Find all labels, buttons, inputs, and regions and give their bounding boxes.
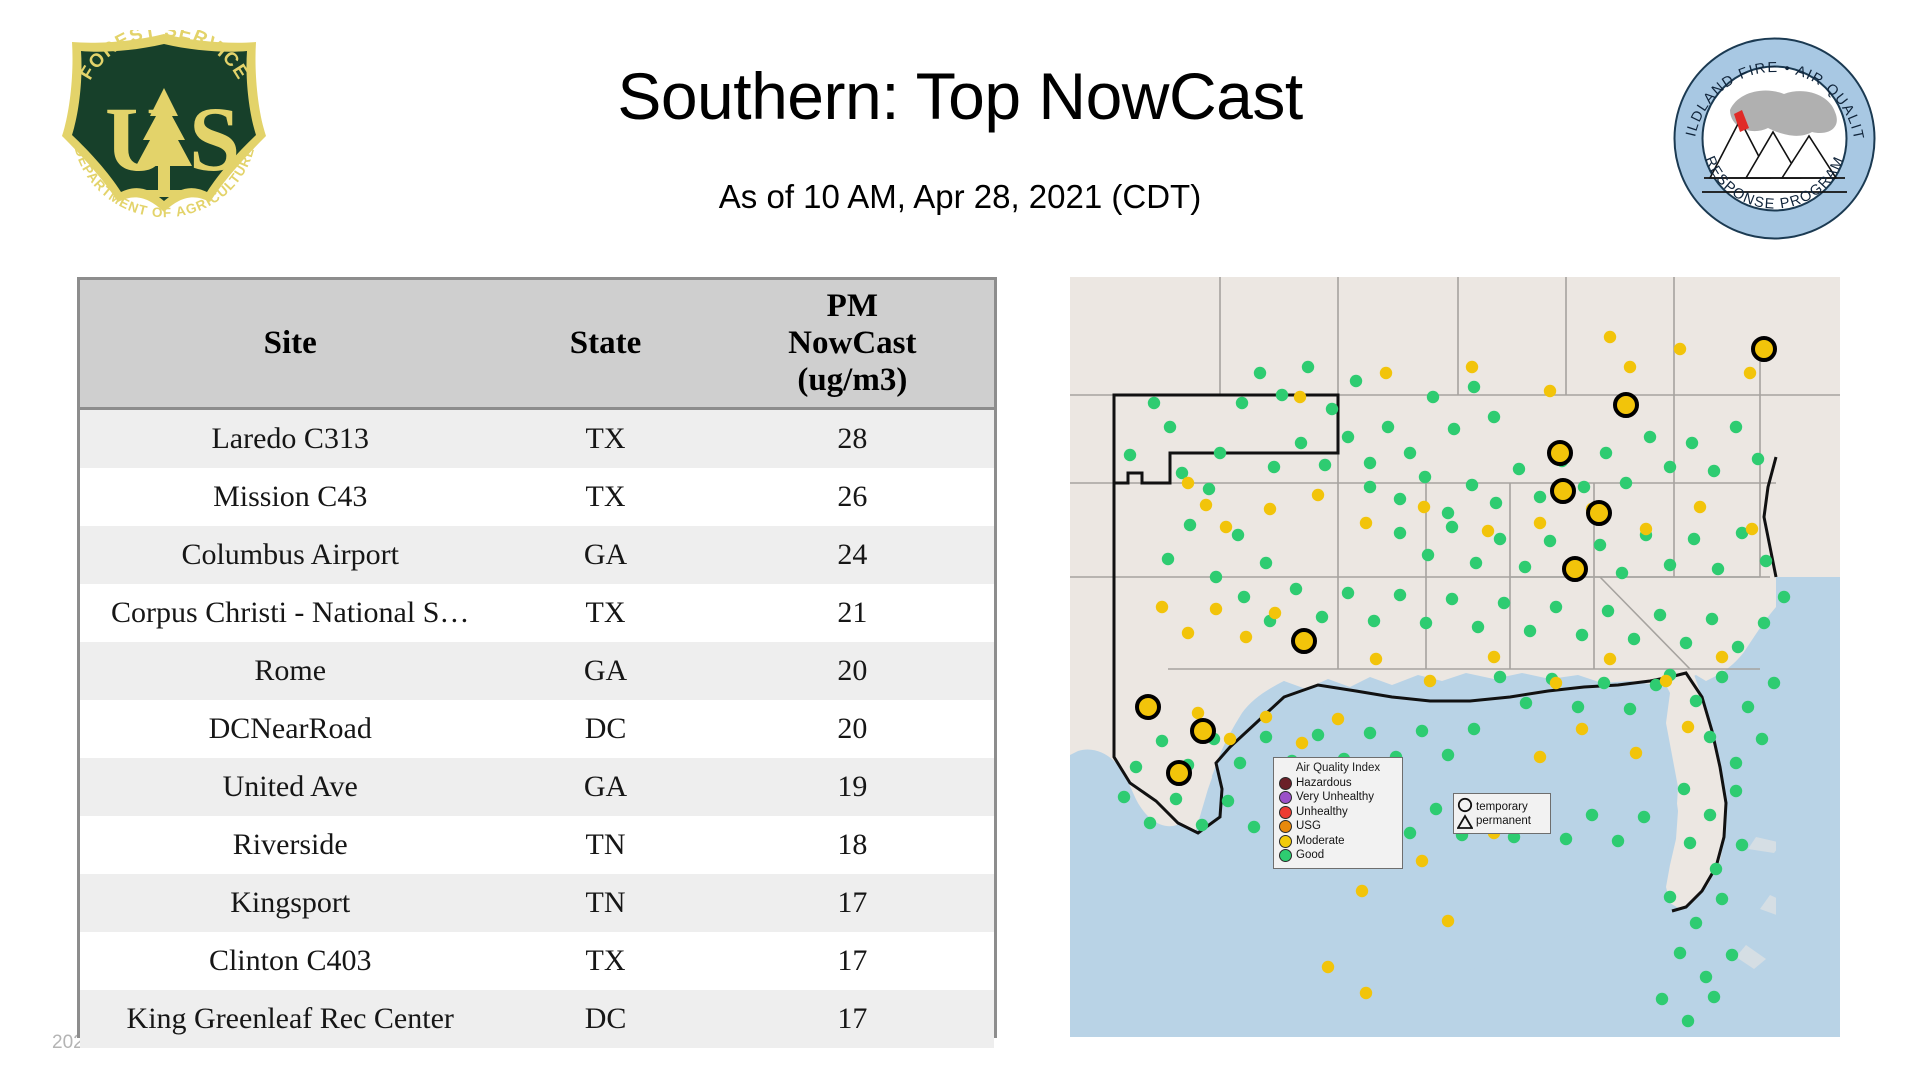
monitor-dot[interactable]	[1730, 785, 1742, 797]
monitor-dot[interactable]	[1712, 563, 1724, 575]
monitor-dot-highlighted[interactable]	[1192, 720, 1214, 742]
monitor-dot[interactable]	[1446, 521, 1458, 533]
pm-header-line-2: NowCast	[788, 325, 916, 361]
cell-state: GA	[500, 526, 710, 584]
atlantic-ocean	[1776, 577, 1840, 1037]
monitor-dot[interactable]	[1778, 591, 1790, 603]
monitor-dot[interactable]	[1752, 453, 1764, 465]
monitor-dot[interactable]	[1416, 725, 1428, 737]
monitor-dot[interactable]	[1600, 447, 1612, 459]
monitor-dot[interactable]	[1148, 397, 1160, 409]
monitor-dot[interactable]	[1678, 783, 1690, 795]
monitor-dot[interactable]	[1604, 653, 1616, 665]
aqi-label-very-unhealthy: Very Unhealthy	[1296, 792, 1374, 804]
monitor-dot[interactable]	[1364, 481, 1376, 493]
monitor-dot[interactable]	[1704, 809, 1716, 821]
monitor-dot[interactable]	[1420, 617, 1432, 629]
monitor-dot[interactable]	[1576, 723, 1588, 735]
cell-site: Columbus Airport	[80, 526, 500, 584]
monitor-dot[interactable]	[1380, 367, 1392, 379]
monitor-dot[interactable]	[1260, 557, 1272, 569]
temporary-circle-icon	[1459, 798, 1471, 810]
monitor-dot[interactable]	[1624, 703, 1636, 715]
cell-pm: 24	[711, 526, 994, 584]
monitor-dot[interactable]	[1742, 701, 1754, 713]
monitor-dot[interactable]	[1182, 477, 1194, 489]
monitor-dot[interactable]	[1744, 367, 1756, 379]
monitor-dot[interactable]	[1498, 597, 1510, 609]
aqi-swatch-usg	[1279, 820, 1292, 833]
monitor-dot[interactable]	[1488, 411, 1500, 423]
monitor-dot[interactable]	[1534, 491, 1546, 503]
monitor-dot[interactable]	[1586, 809, 1598, 821]
monitor-dot[interactable]	[1572, 701, 1584, 713]
monitor-dot[interactable]	[1446, 593, 1458, 605]
monitor-dot[interactable]	[1544, 535, 1556, 547]
monitor-dot[interactable]	[1322, 961, 1334, 973]
aqi-label-hazardous: Hazardous	[1296, 778, 1352, 790]
monitor-dot[interactable]	[1394, 493, 1406, 505]
table-row: Riverside TN 18	[80, 816, 994, 874]
monitor-dot[interactable]	[1156, 735, 1168, 747]
monitor-dot[interactable]	[1550, 677, 1562, 689]
monitor-dot[interactable]	[1394, 589, 1406, 601]
monitor-dot[interactable]	[1332, 713, 1344, 725]
monitor-dot[interactable]	[1656, 993, 1668, 1005]
monitor-dot[interactable]	[1630, 747, 1642, 759]
monitor-dot[interactable]	[1130, 761, 1142, 773]
monitor-dot[interactable]	[1442, 507, 1454, 519]
cell-state: TN	[500, 874, 710, 932]
monitor-dot[interactable]	[1210, 571, 1222, 583]
monitor-dot[interactable]	[1706, 613, 1718, 625]
us-forest-service-shield-logo: FOREST SERVICE DEPARTMENT OF AGRICULTURE…	[52, 30, 277, 235]
monitor-dot[interactable]	[1710, 863, 1722, 875]
permanent-triangle-icon	[1458, 816, 1472, 828]
cell-pm: 17	[711, 932, 994, 990]
monitor-dot[interactable]	[1360, 987, 1372, 999]
monitor-dot[interactable]	[1184, 519, 1196, 531]
site-legend-label-permanent: permanent	[1476, 814, 1531, 828]
monitor-dot[interactable]	[1200, 499, 1212, 511]
monitor-dot[interactable]	[1494, 533, 1506, 545]
monitor-dot[interactable]	[1620, 477, 1632, 489]
monitor-dot[interactable]	[1264, 503, 1276, 515]
cell-pm: 28	[711, 408, 994, 468]
monitor-dot[interactable]	[1236, 397, 1248, 409]
monitor-dot[interactable]	[1269, 607, 1281, 619]
monitor-dot[interactable]	[1468, 381, 1480, 393]
aqi-legend-item-moderate: Moderate	[1279, 834, 1397, 849]
monitor-dot[interactable]	[1222, 795, 1234, 807]
monitor-dot[interactable]	[1302, 361, 1314, 373]
aqi-swatch-hazardous	[1279, 777, 1292, 790]
cell-site: Riverside	[80, 816, 500, 874]
monitor-dot[interactable]	[1427, 391, 1439, 403]
monitor-dot-highlighted[interactable]	[1615, 394, 1637, 416]
monitor-dot[interactable]	[1295, 437, 1307, 449]
monitor-dot[interactable]	[1442, 915, 1454, 927]
monitor-dot[interactable]	[1448, 423, 1460, 435]
aqi-legend: Air Quality Index Hazardous Very Unhealt…	[1273, 757, 1403, 869]
aqi-legend-item-usg: USG	[1279, 820, 1397, 835]
table-row: Laredo C313 TX 28	[80, 408, 994, 468]
table-row: DCNearRoad DC 20	[80, 700, 994, 758]
cell-state: TX	[500, 408, 710, 468]
monitor-dot[interactable]	[1404, 827, 1416, 839]
monitor-dot[interactable]	[1550, 601, 1562, 613]
monitor-dot[interactable]	[1682, 1015, 1694, 1027]
monitor-dot[interactable]	[1422, 549, 1434, 561]
monitor-dot[interactable]	[1494, 671, 1506, 683]
monitor-dot[interactable]	[1716, 893, 1728, 905]
cell-site: DCNearRoad	[80, 700, 500, 758]
table-row: Kingsport TN 17	[80, 874, 994, 932]
fs-logo-letter-s: S	[189, 88, 240, 190]
monitor-dot[interactable]	[1708, 465, 1720, 477]
aqi-legend-item-good: Good	[1279, 849, 1397, 864]
cell-state: DC	[500, 990, 710, 1048]
monitor-dot[interactable]	[1612, 835, 1624, 847]
aqi-label-good: Good	[1296, 850, 1324, 862]
column-header-site[interactable]: Site	[80, 280, 500, 408]
monitor-dot[interactable]	[1624, 361, 1636, 373]
air-quality-map[interactable]: Air Quality Index Hazardous Very Unhealt…	[1070, 277, 1840, 1037]
monitor-dot[interactable]	[1602, 605, 1614, 617]
monitor-dot[interactable]	[1210, 603, 1222, 615]
monitor-dot[interactable]	[1638, 811, 1650, 823]
monitor-dot[interactable]	[1482, 525, 1494, 537]
page-title: Southern: Top NowCast	[360, 62, 1560, 131]
monitor-dot[interactable]	[1682, 721, 1694, 733]
monitor-dot[interactable]	[1404, 447, 1416, 459]
monitor-dot[interactable]	[1758, 617, 1770, 629]
monitor-dot[interactable]	[1520, 697, 1532, 709]
monitor-dot[interactable]	[1170, 793, 1182, 805]
monitor-dot[interactable]	[1470, 557, 1482, 569]
monitor-dot[interactable]	[1694, 501, 1706, 513]
monitor-dot[interactable]	[1700, 971, 1712, 983]
monitor-dot[interactable]	[1260, 731, 1272, 743]
monitor-dot[interactable]	[1296, 737, 1308, 749]
monitor-dot[interactable]	[1268, 461, 1280, 473]
pm-header-line-1: PM	[827, 288, 878, 324]
monitor-dot[interactable]	[1534, 751, 1546, 763]
aqi-swatch-very-unhealthy	[1279, 791, 1292, 804]
monitor-dot[interactable]	[1319, 459, 1331, 471]
slide-header: FOREST SERVICE DEPARTMENT OF AGRICULTURE…	[0, 0, 1920, 250]
monitor-dot[interactable]	[1690, 917, 1702, 929]
monitor-dot[interactable]	[1604, 331, 1616, 343]
monitor-dot[interactable]	[1684, 837, 1696, 849]
site-legend-label-temporary: temporary	[1476, 800, 1531, 814]
monitor-dot[interactable]	[1690, 695, 1702, 707]
monitor-dot[interactable]	[1316, 611, 1328, 623]
monitor-dot[interactable]	[1524, 625, 1536, 637]
monitor-dot[interactable]	[1260, 711, 1272, 723]
table-body: Laredo C313 TX 28 Mission C43 TX 26 Colu…	[80, 408, 994, 1048]
top-nowcast-table: Site State PM NowCast (ug/m3) Laredo C31…	[80, 280, 994, 1048]
aqi-legend-item-unhealthy: Unhealthy	[1279, 805, 1397, 820]
monitor-dot-highlighted[interactable]	[1588, 502, 1610, 524]
table-row: Corpus Christi - National S… TX 21	[80, 584, 994, 642]
table-row: Mission C43 TX 26	[80, 468, 994, 526]
table-row: United Ave GA 19	[80, 758, 994, 816]
monitor-dot[interactable]	[1118, 791, 1130, 803]
cell-state: GA	[500, 758, 710, 816]
monitor-dot[interactable]	[1382, 421, 1394, 433]
cell-pm: 21	[711, 584, 994, 642]
monitor-dot[interactable]	[1360, 517, 1372, 529]
table-row: Rome GA 20	[80, 642, 994, 700]
cell-pm: 19	[711, 758, 994, 816]
aqi-legend-item-hazardous: Hazardous	[1279, 776, 1397, 791]
monitor-dot-highlighted[interactable]	[1753, 338, 1775, 360]
monitor-dot[interactable]	[1238, 591, 1250, 603]
cell-site: Rome	[80, 642, 500, 700]
monitor-dot-highlighted[interactable]	[1137, 696, 1159, 718]
cell-pm: 26	[711, 468, 994, 526]
monitor-dot[interactable]	[1674, 947, 1686, 959]
column-header-pm-nowcast[interactable]: PM NowCast (ug/m3)	[711, 280, 994, 408]
monitor-dot[interactable]	[1326, 403, 1338, 415]
monitor-dot[interactable]	[1164, 421, 1176, 433]
cell-state: TN	[500, 816, 710, 874]
cell-pm: 20	[711, 700, 994, 758]
monitor-dot[interactable]	[1534, 517, 1546, 529]
monitor-dot[interactable]	[1756, 733, 1768, 745]
monitor-dot[interactable]	[1544, 385, 1556, 397]
monitor-dot[interactable]	[1472, 621, 1484, 633]
monitor-dot[interactable]	[1664, 559, 1676, 571]
monitor-dot[interactable]	[1312, 729, 1324, 741]
monitor-dot[interactable]	[1182, 627, 1194, 639]
monitor-dot[interactable]	[1232, 529, 1244, 541]
cell-pm: 17	[711, 990, 994, 1048]
monitor-dot[interactable]	[1560, 833, 1572, 845]
monitor-dot[interactable]	[1220, 521, 1232, 533]
monitor-dot[interactable]	[1430, 803, 1442, 815]
monitor-dot[interactable]	[1214, 447, 1226, 459]
monitor-dot[interactable]	[1488, 651, 1500, 663]
monitor-dot[interactable]	[1466, 479, 1478, 491]
monitor-dot[interactable]	[1680, 637, 1692, 649]
aqi-legend-title: Air Quality Index	[1279, 762, 1397, 774]
monitor-dot[interactable]	[1370, 653, 1382, 665]
cell-site: Laredo C313	[80, 408, 500, 468]
monitor-dot[interactable]	[1594, 539, 1606, 551]
monitor-dot[interactable]	[1616, 567, 1628, 579]
monitor-dot[interactable]	[1312, 489, 1324, 501]
monitor-dot[interactable]	[1192, 707, 1204, 719]
monitor-dot[interactable]	[1664, 891, 1676, 903]
monitor-dot[interactable]	[1760, 555, 1772, 567]
monitor-dot[interactable]	[1654, 609, 1666, 621]
monitor-dot[interactable]	[1716, 671, 1728, 683]
wfaqrp-seal-logo: WILDLAND FIRE • AIR QUALITY RESPONSE PRO…	[1672, 36, 1877, 241]
cell-state: TX	[500, 584, 710, 642]
cell-state: TX	[500, 468, 710, 526]
monitor-dot[interactable]	[1290, 583, 1302, 595]
monitor-dot[interactable]	[1704, 731, 1716, 743]
monitor-dot[interactable]	[1418, 501, 1430, 513]
monitor-dot-highlighted[interactable]	[1168, 762, 1190, 784]
monitor-dot[interactable]	[1664, 461, 1676, 473]
aqi-label-unhealthy: Unhealthy	[1296, 807, 1348, 819]
monitor-dot[interactable]	[1144, 817, 1156, 829]
monitor-dot[interactable]	[1124, 449, 1136, 461]
monitor-dot-highlighted[interactable]	[1552, 480, 1574, 502]
monitor-dot[interactable]	[1342, 587, 1354, 599]
monitor-dot[interactable]	[1513, 463, 1525, 475]
monitor-dot[interactable]	[1466, 361, 1478, 373]
aqi-label-moderate: Moderate	[1296, 836, 1345, 848]
monitor-dot[interactable]	[1234, 757, 1246, 769]
monitor-dot[interactable]	[1730, 757, 1742, 769]
monitor-dot[interactable]	[1364, 457, 1376, 469]
cell-site: Clinton C403	[80, 932, 500, 990]
cell-pm: 20	[711, 642, 994, 700]
map-canvas	[1070, 277, 1840, 1037]
monitor-dot[interactable]	[1644, 431, 1656, 443]
monitor-dot[interactable]	[1726, 949, 1738, 961]
cell-pm: 18	[711, 816, 994, 874]
table-row: King Greenleaf Rec Center DC 17	[80, 990, 994, 1048]
monitor-dot[interactable]	[1394, 527, 1406, 539]
monitor-dot-highlighted[interactable]	[1549, 442, 1571, 464]
cell-site: King Greenleaf Rec Center	[80, 990, 500, 1048]
site-type-legend: temporary permanent	[1453, 793, 1551, 834]
monitor-dot[interactable]	[1730, 421, 1742, 433]
monitor-dot[interactable]	[1688, 533, 1700, 545]
monitor-dot[interactable]	[1424, 675, 1436, 687]
monitor-dot[interactable]	[1368, 615, 1380, 627]
monitor-dot[interactable]	[1768, 677, 1780, 689]
cell-site: Mission C43	[80, 468, 500, 526]
monitor-dot[interactable]	[1640, 523, 1652, 535]
monitor-dot[interactable]	[1708, 991, 1720, 1003]
monitor-dot[interactable]	[1240, 631, 1252, 643]
page-subtitle: As of 10 AM, Apr 28, 2021 (CDT)	[360, 178, 1560, 216]
monitor-dot[interactable]	[1419, 471, 1431, 483]
cell-state: GA	[500, 642, 710, 700]
aqi-swatch-moderate	[1279, 835, 1292, 848]
top-nowcast-table-container: Site State PM NowCast (ug/m3) Laredo C31…	[77, 277, 997, 1038]
aqi-label-usg: USG	[1296, 821, 1321, 833]
table-row: Columbus Airport GA 24	[80, 526, 994, 584]
aqi-swatch-good	[1279, 849, 1292, 862]
monitor-dot[interactable]	[1294, 391, 1306, 403]
monitor-dot[interactable]	[1162, 553, 1174, 565]
pm-header-line-3: (ug/m3)	[797, 362, 907, 398]
cell-site: United Ave	[80, 758, 500, 816]
monitor-dot[interactable]	[1736, 839, 1748, 851]
monitor-dot[interactable]	[1746, 523, 1758, 535]
table-row: Clinton C403 TX 17	[80, 932, 994, 990]
monitor-dot[interactable]	[1364, 727, 1376, 739]
monitor-dot[interactable]	[1674, 343, 1686, 355]
aqi-legend-item-very-unhealthy: Very Unhealthy	[1279, 791, 1397, 806]
monitor-dot[interactable]	[1732, 641, 1744, 653]
cell-site: Corpus Christi - National S…	[80, 584, 500, 642]
cell-state: DC	[500, 700, 710, 758]
table-header-row: Site State PM NowCast (ug/m3)	[80, 280, 994, 408]
monitor-dot[interactable]	[1342, 431, 1354, 443]
monitor-dot[interactable]	[1276, 389, 1288, 401]
monitor-dot[interactable]	[1416, 855, 1428, 867]
site-type-symbols	[1457, 797, 1473, 831]
monitor-dot[interactable]	[1224, 733, 1236, 745]
monitor-dot[interactable]	[1468, 723, 1480, 735]
monitor-dot[interactable]	[1254, 367, 1266, 379]
monitor-dot-highlighted[interactable]	[1564, 558, 1586, 580]
monitor-dot-highlighted[interactable]	[1293, 630, 1315, 652]
monitor-dot[interactable]	[1490, 497, 1502, 509]
cell-site: Kingsport	[80, 874, 500, 932]
monitor-dot[interactable]	[1578, 481, 1590, 493]
slide-root: 2021-04-28 10:00 AM CDT FOREST SERVICE D…	[0, 0, 1920, 1080]
monitor-dot[interactable]	[1628, 633, 1640, 645]
monitor-dot[interactable]	[1356, 885, 1368, 897]
cell-pm: 17	[711, 874, 994, 932]
monitor-dot[interactable]	[1660, 675, 1672, 687]
cell-state: TX	[500, 932, 710, 990]
monitor-dot[interactable]	[1598, 677, 1610, 689]
monitor-dot[interactable]	[1248, 821, 1260, 833]
column-header-state[interactable]: State	[500, 280, 710, 408]
monitor-dot[interactable]	[1716, 651, 1728, 663]
monitor-dot[interactable]	[1350, 375, 1362, 387]
monitor-dot[interactable]	[1442, 749, 1454, 761]
monitor-dot[interactable]	[1576, 629, 1588, 641]
monitor-dot[interactable]	[1196, 819, 1208, 831]
aqi-swatch-unhealthy	[1279, 806, 1292, 819]
monitor-dot[interactable]	[1156, 601, 1168, 613]
monitor-dot[interactable]	[1519, 561, 1531, 573]
monitor-dot[interactable]	[1686, 437, 1698, 449]
monitor-dot[interactable]	[1203, 483, 1215, 495]
